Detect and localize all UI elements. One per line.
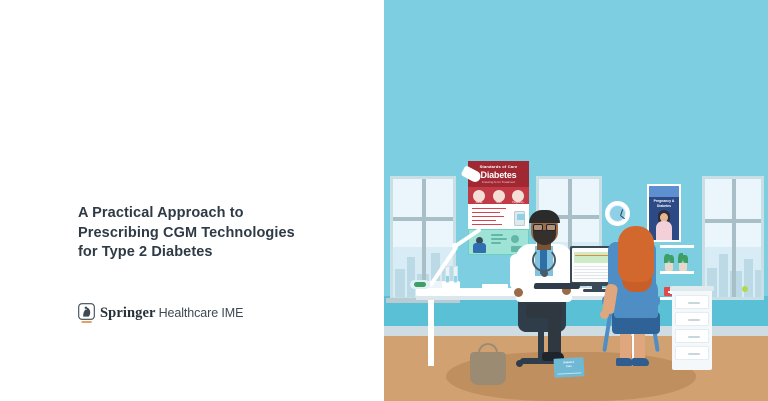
title-slide: A Practical Approach to Prescribing CGM … [0,0,768,401]
petri-dish-icon [410,280,430,289]
knight-chess-piece-icon [78,303,95,324]
patient-figure [598,226,680,391]
eyeglasses-icon [546,224,556,231]
title-line-2: Prescribing CGM Technologies [78,224,338,244]
clock-face [609,205,626,222]
title-line-3: for Type 2 Diabetes [78,243,338,263]
poster-icon-row: Adults Youth Pregnancy [468,187,529,204]
eyeglasses-icon [533,224,543,231]
board-figure [473,237,486,253]
potted-plant-icon [679,263,687,271]
decor-dot-right [742,286,748,292]
framed-poster-line-1: Pregnancy & [649,199,679,203]
title-line-1: A Practical Approach to [78,204,338,224]
patient-hair [618,226,654,282]
test-tube-icon [445,266,450,283]
doctor-figure [502,208,588,378]
booklet-title-line-2: Care [554,364,584,369]
wall-clock-icon [605,201,630,226]
page-title: A Practical Approach to Prescribing CGM … [78,204,338,263]
springer-healthcare-ime-logo: Springer Healthcare IME [78,303,243,324]
title-panel: A Practical Approach to Prescribing CGM … [0,0,384,401]
logo-suffix: Healthcare IME [159,306,244,320]
logo-wordmark: Springer Healthcare IME [100,305,243,322]
framed-poster-line-2: Diabetes [649,204,679,208]
keyboard [534,283,581,289]
consultation-room-illustration: Standards of Care Diabetes Knowing Is fo… [384,0,768,401]
window-right [702,176,764,300]
handbag [470,352,506,385]
poster-eyebrow: Standards of Care [468,164,529,169]
test-tube-icon [453,266,458,283]
stethoscope-icon [532,248,556,272]
diabetes-care-booklet: Diabetes Care [554,357,585,378]
logo-brand: Springer [100,305,156,322]
